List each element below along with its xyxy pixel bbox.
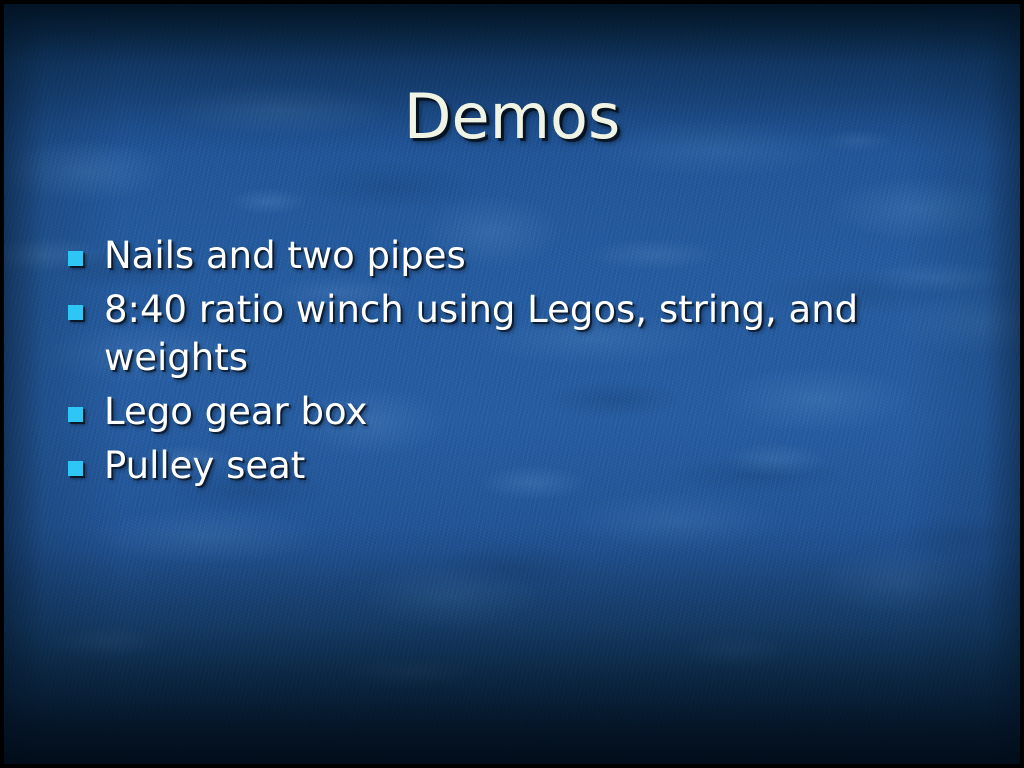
list-item: Pulley seat — [66, 442, 966, 490]
list-item-label: Nails and two pipes — [104, 232, 966, 280]
list-item: Nails and two pipes — [66, 232, 966, 280]
list-item-label: Lego gear box — [104, 388, 966, 436]
slide-title: Demos — [4, 86, 1020, 148]
list-item: Lego gear box — [66, 388, 966, 436]
list-item-label: 8:40 ratio winch using Legos, string, an… — [104, 286, 966, 382]
square-bullet-icon — [68, 251, 83, 266]
square-bullet-icon — [68, 461, 83, 476]
square-bullet-icon — [68, 305, 83, 320]
list-item: 8:40 ratio winch using Legos, string, an… — [66, 286, 966, 382]
list-item-label: Pulley seat — [104, 442, 966, 490]
presentation-slide: Demos Nails and two pipes 8:40 ratio win… — [0, 0, 1024, 768]
bullet-list: Nails and two pipes 8:40 ratio winch usi… — [66, 232, 966, 496]
square-bullet-icon — [68, 407, 83, 422]
